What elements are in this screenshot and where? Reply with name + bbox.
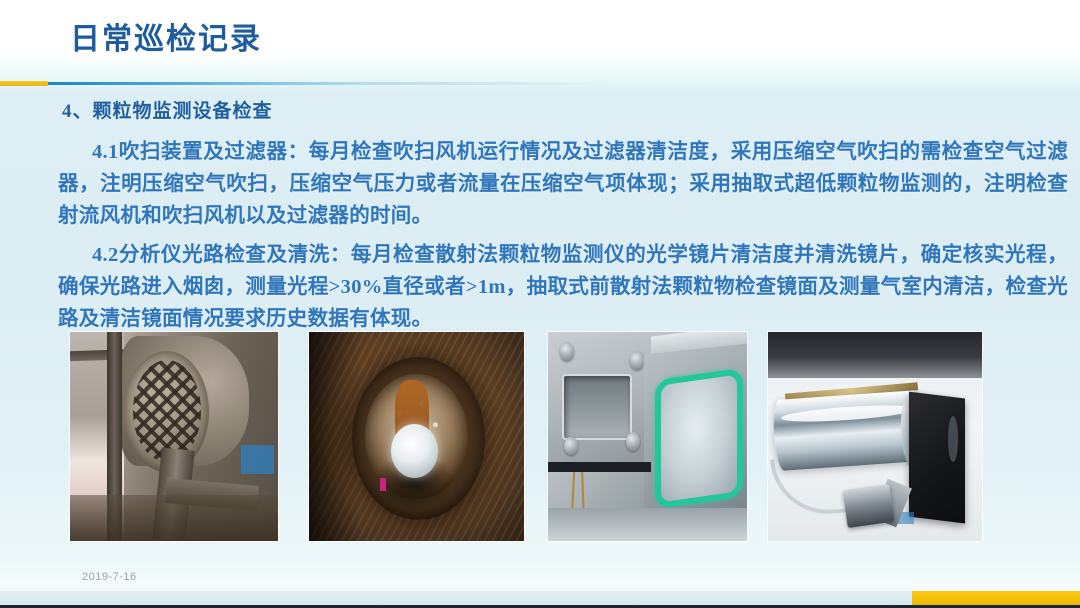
paragraph-4-2: 4.2分析仪光路检查及清洗：每月检查散射法颗粒物监测仪的光学镜片清洁度并清洗镜片… bbox=[58, 239, 1068, 335]
section-heading: 4、颗粒物监测设备检查 bbox=[62, 96, 273, 123]
divider-gold-accent bbox=[0, 81, 48, 86]
dusty-honeycomb-filter-photo bbox=[70, 332, 278, 541]
footer-bar bbox=[0, 591, 1080, 605]
analyzer-chamber-green-gasket-photo bbox=[548, 332, 747, 541]
slide-date: 2019-7-16 bbox=[82, 571, 137, 583]
paragraph-4-1: 4.1吹扫装置及过滤器：每月检查吹扫风机运行情况及过滤器清洁度，采用压缩空气吹扫… bbox=[58, 136, 1068, 232]
header-divider bbox=[0, 81, 1080, 86]
glass-measurement-cell-photo bbox=[768, 332, 982, 541]
photo-strip bbox=[70, 332, 1012, 541]
divider-blue-line bbox=[0, 82, 620, 85]
slide-canvas: 日常巡检记录 4、颗粒物监测设备检查 4.1吹扫装置及过滤器：每月检查吹扫风机运… bbox=[0, 0, 1080, 608]
footer-gold-accent bbox=[912, 591, 1080, 605]
page-title: 日常巡检记录 bbox=[70, 14, 262, 58]
rusty-stack-port-lens-photo bbox=[309, 332, 524, 541]
